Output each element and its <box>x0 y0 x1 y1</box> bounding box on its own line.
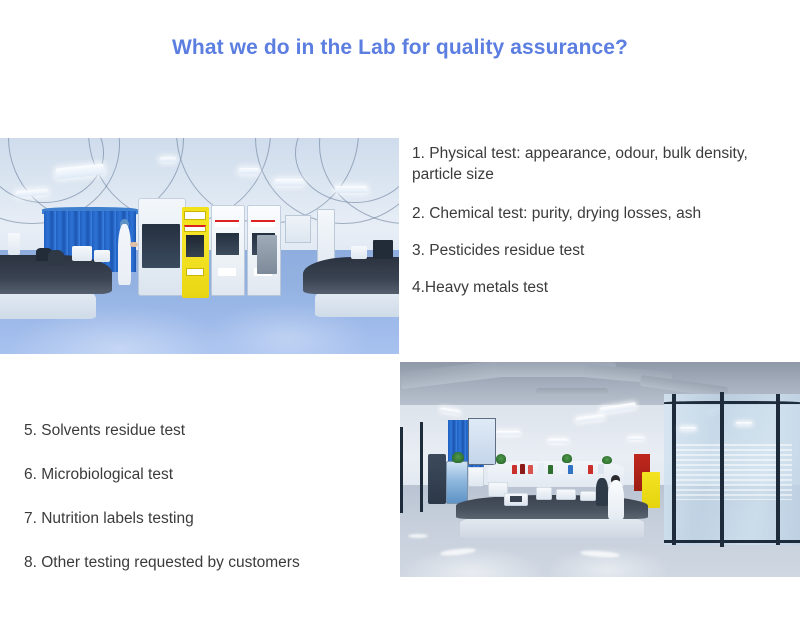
frosted-glass-band <box>672 444 792 500</box>
potted-plant <box>562 454 572 463</box>
ceiling-light <box>335 186 367 194</box>
reagent-bottle <box>548 465 553 474</box>
reagent-bottle <box>512 465 517 474</box>
cabinet-window <box>186 235 204 257</box>
hazard-label <box>186 268 204 277</box>
ceiling-light <box>160 157 176 161</box>
reagent-bottle <box>598 464 604 474</box>
slide-page: What we do in the Lab for quality assura… <box>0 0 800 636</box>
lab-equipment <box>72 246 92 261</box>
ceiling-light <box>736 422 752 425</box>
list-item: 8. Other testing requested by customers <box>24 553 396 574</box>
technician <box>608 480 624 519</box>
door <box>317 209 335 265</box>
hazard-label <box>184 211 206 220</box>
lab-instrument <box>536 487 552 500</box>
list-item: 4.Heavy metals test <box>412 278 800 299</box>
wall-panel <box>285 215 311 243</box>
potted-plant <box>496 454 506 464</box>
reagent-bottle <box>558 464 564 474</box>
reagent-bottle <box>578 463 584 474</box>
lab-instrument <box>580 491 596 501</box>
reagent-bottle <box>528 465 533 474</box>
technician-secondary <box>596 478 608 506</box>
ceiling-light <box>496 431 520 435</box>
laboratory-photo-blue-room <box>0 138 399 354</box>
lab-equipment <box>8 233 20 255</box>
glass-frame <box>400 427 403 513</box>
glass-frame <box>776 394 780 545</box>
technician <box>118 224 132 284</box>
cabinet-label <box>215 220 239 227</box>
lab-instrument <box>556 489 576 500</box>
list-item: 6. Microbiological test <box>24 465 396 486</box>
monitor <box>373 240 393 259</box>
lab-equipment <box>351 246 367 259</box>
list-item: 2. Chemical test: purity, drying losses,… <box>412 204 800 225</box>
reagent-bottle <box>588 465 593 474</box>
reagent-bottle <box>568 465 573 474</box>
test-list-right: 1. Physical test: appearance, odour, bul… <box>412 144 800 315</box>
ceiling-light <box>275 179 303 185</box>
reagent-bottle <box>520 464 525 474</box>
potted-plant <box>452 452 464 463</box>
ceiling-light <box>239 168 259 173</box>
lab-equipment <box>468 467 484 486</box>
ceiling-duct <box>536 388 608 397</box>
glass-frame <box>672 394 676 545</box>
cabinet-window <box>216 233 239 255</box>
hazard-label <box>218 268 236 277</box>
stool <box>48 250 64 265</box>
glass-frame <box>420 422 423 512</box>
blue-refrigerator <box>446 461 468 504</box>
grey-cabinet <box>257 235 277 274</box>
glass-frame <box>664 540 800 543</box>
window <box>468 418 496 465</box>
hazard-label <box>184 225 206 231</box>
potted-plant <box>602 456 612 465</box>
instrument-screen <box>510 496 522 502</box>
page-title: What we do in the Lab for quality assura… <box>0 36 800 60</box>
dark-cabinet <box>428 454 446 503</box>
reagent-bottle <box>538 463 544 474</box>
fume-hood-sash <box>142 224 180 267</box>
list-item: 5. Solvents residue test <box>24 421 396 442</box>
lab-equipment <box>94 250 110 262</box>
test-list-bottom-left: 5. Solvents residue test 6. Microbiologi… <box>24 421 396 597</box>
list-item: 7. Nutrition labels testing <box>24 509 396 530</box>
panorama-blue-room <box>0 138 399 354</box>
laboratory-photo-grey-room <box>400 362 800 577</box>
ceiling-light <box>628 437 644 440</box>
glass-frame <box>720 392 724 547</box>
glass-frame <box>664 401 800 404</box>
panorama-grey-room <box>400 362 800 577</box>
technician-hands <box>130 242 139 247</box>
laboratory-bench <box>303 257 399 294</box>
ceiling-light <box>680 427 696 430</box>
list-item: 3. Pesticides residue test <box>412 241 800 262</box>
list-item: 1. Physical test: appearance, odour, bul… <box>412 144 800 186</box>
ceiling-light <box>548 439 568 442</box>
cabinet-label <box>251 220 275 227</box>
